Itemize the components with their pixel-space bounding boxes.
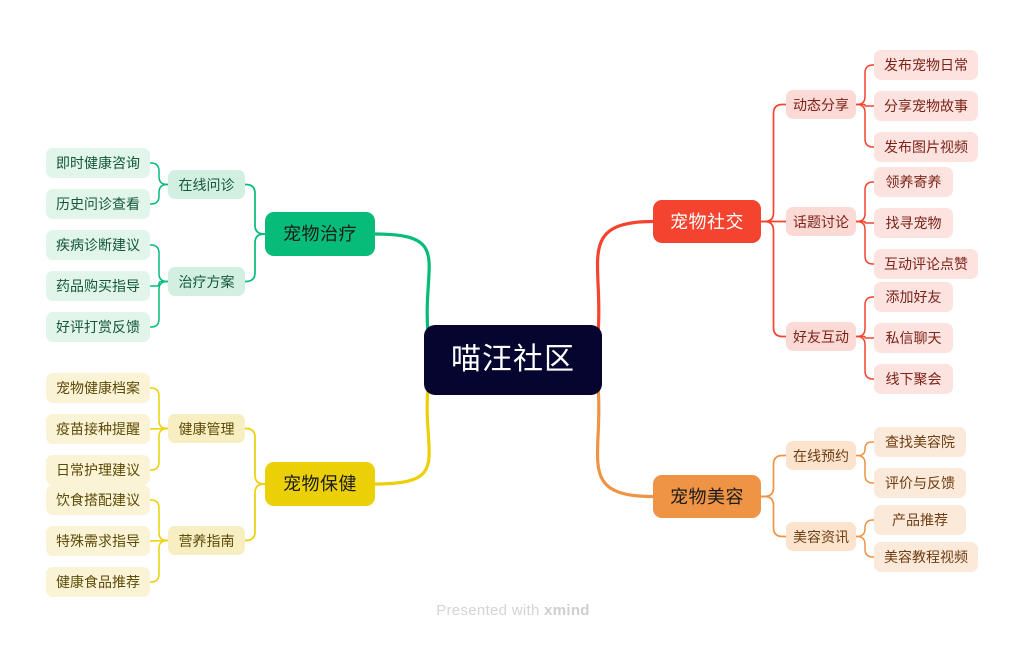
- xmind-brand: xmind: [544, 602, 590, 619]
- sub-topic-grooming-0[interactable]: 在线预约: [786, 441, 856, 470]
- leaf-topic-social-0-1[interactable]: 分享宠物故事: [874, 91, 978, 121]
- footer-attribution: Presented with xmind: [0, 602, 1026, 619]
- main-topic-treatment[interactable]: 宠物治疗: [265, 212, 375, 256]
- mindmap-canvas: 喵汪社区宠物治疗在线问诊即时健康咨询历史问诊查看治疗方案疾病诊断建议药品购买指导…: [0, 0, 1026, 646]
- leaf-topic-social-0-0[interactable]: 发布宠物日常: [874, 50, 978, 80]
- leaf-topic-social-1-1[interactable]: 找寻宠物: [874, 208, 953, 238]
- footer-prefix: Presented with: [436, 602, 544, 619]
- leaf-topic-health-0-1[interactable]: 疫苗接种提醒: [46, 414, 150, 444]
- sub-topic-treatment-0[interactable]: 在线问诊: [168, 170, 245, 199]
- main-topic-social[interactable]: 宠物社交: [653, 200, 761, 243]
- sub-topic-treatment-1[interactable]: 治疗方案: [168, 267, 245, 296]
- leaf-topic-grooming-0-1[interactable]: 评价与反馈: [874, 468, 966, 498]
- leaf-topic-social-2-0[interactable]: 添加好友: [874, 282, 953, 312]
- connector-layer: [0, 0, 1026, 646]
- leaf-topic-treatment-1-0[interactable]: 疾病诊断建议: [46, 230, 150, 260]
- central-topic[interactable]: 喵汪社区: [424, 325, 602, 395]
- sub-topic-health-1[interactable]: 营养指南: [168, 526, 245, 555]
- main-topic-health[interactable]: 宠物保健: [265, 462, 375, 506]
- leaf-topic-health-0-2[interactable]: 日常护理建议: [46, 455, 150, 485]
- leaf-topic-grooming-1-1[interactable]: 美容教程视频: [874, 542, 978, 572]
- leaf-topic-health-1-0[interactable]: 饮食搭配建议: [46, 485, 150, 515]
- leaf-topic-health-1-2[interactable]: 健康食品推荐: [46, 567, 150, 597]
- leaf-topic-health-1-1[interactable]: 特殊需求指导: [46, 526, 150, 556]
- sub-topic-social-0[interactable]: 动态分享: [786, 90, 856, 119]
- leaf-topic-grooming-0-0[interactable]: 查找美容院: [874, 427, 966, 457]
- leaf-topic-social-1-2[interactable]: 互动评论点赞: [874, 249, 978, 279]
- sub-topic-grooming-1[interactable]: 美容资讯: [786, 522, 856, 551]
- leaf-topic-grooming-1-0[interactable]: 产品推荐: [874, 505, 966, 535]
- leaf-topic-treatment-0-0[interactable]: 即时健康咨询: [46, 148, 150, 178]
- leaf-topic-social-1-0[interactable]: 领养寄养: [874, 167, 953, 197]
- sub-topic-social-1[interactable]: 话题讨论: [786, 207, 856, 236]
- leaf-topic-social-2-1[interactable]: 私信聊天: [874, 323, 953, 353]
- leaf-topic-health-0-0[interactable]: 宠物健康档案: [46, 373, 150, 403]
- leaf-topic-social-0-2[interactable]: 发布图片视频: [874, 132, 978, 162]
- leaf-topic-treatment-1-1[interactable]: 药品购买指导: [46, 271, 150, 301]
- main-topic-grooming[interactable]: 宠物美容: [653, 475, 761, 518]
- leaf-topic-social-2-2[interactable]: 线下聚会: [874, 364, 953, 394]
- sub-topic-social-2[interactable]: 好友互动: [786, 322, 856, 351]
- leaf-topic-treatment-1-2[interactable]: 好评打赏反馈: [46, 312, 150, 342]
- sub-topic-health-0[interactable]: 健康管理: [168, 414, 245, 443]
- leaf-topic-treatment-0-1[interactable]: 历史问诊查看: [46, 189, 150, 219]
